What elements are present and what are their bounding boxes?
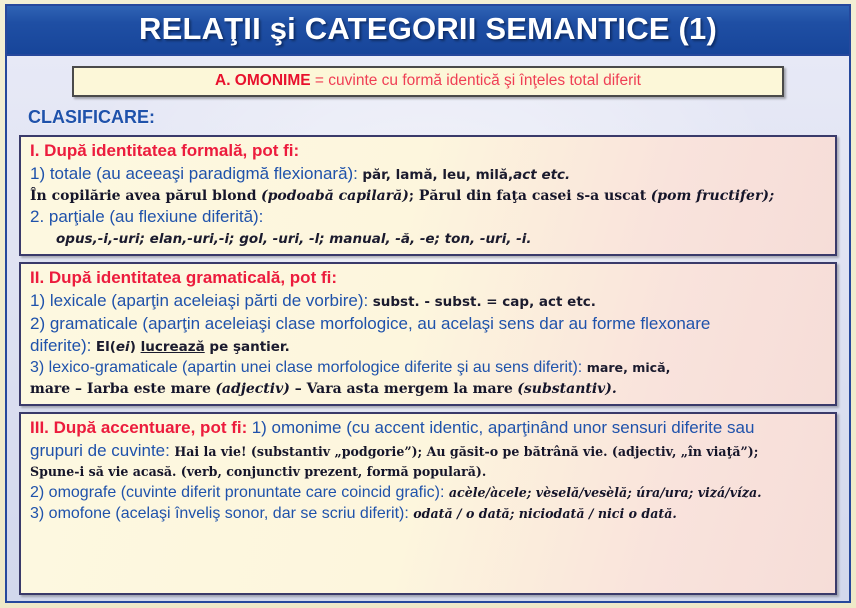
title-bar: RELAŢII şi CATEGORII SEMANTICE (1) [7, 6, 849, 56]
section-i-line1-example: păr, lamă, leu, milă, [362, 167, 513, 183]
section-iii-line-4: 2) omografe (cuvinte diferit pronuntate … [30, 483, 828, 504]
section-ii-line5-italic-2: (substantiv). [517, 381, 617, 397]
clasificare-label: CLASIFICARE: [28, 107, 840, 128]
poster-root: RELAŢII şi CATEGORII SEMANTICE (1) A. OM… [0, 0, 856, 608]
section-ii-line3-ex-underline: lucrează [141, 339, 205, 355]
section-i-line1-example-italic: act etc. [513, 167, 570, 183]
definition-text: = cuvinte cu formă identică şi înţeles t… [311, 72, 641, 89]
section-i-heading-line: I. După identitatea formală, pot fi: [30, 140, 828, 163]
section-iii-heading-line: III. După accentuare, pot fi: 1) omonime… [30, 417, 828, 440]
section-ii-line-1: 1) lexicale (aparţin aceleiaşi părti de … [30, 290, 828, 313]
section-ii-line1-blue: 1) lexicale (aparţin aceleiaşi părti de … [30, 291, 368, 310]
section-iii-heading: III. După accentuare, pot fi: [30, 418, 247, 437]
section-ii: II. După identitatea gramaticală, pot fi… [19, 262, 837, 406]
section-i: I. După identitatea formală, pot fi: 1) … [19, 135, 837, 256]
section-iii-line3-example: Spune-i să vie acasă. (verb, conjunctiv … [30, 464, 486, 479]
section-ii-line2-blue: 2) gramaticale (aparţin aceleiaşi clase … [30, 314, 710, 333]
section-ii-line5-italic-1: (adjectiv) [215, 381, 290, 397]
section-ii-line3-ex-c: pe şantier. [205, 339, 290, 355]
section-ii-line-4: 3) lexico-gramaticale (apartin unei clas… [30, 358, 828, 379]
section-ii-line3-blue: diferite): [30, 336, 91, 355]
section-iii-line2-blue: grupuri de cuvinte: [30, 441, 170, 460]
section-i-line-1: 1) totale (au aceeaşi paradigmă flexiona… [30, 163, 828, 186]
section-i-heading: I. După identitatea formală, pot fi: [30, 141, 299, 160]
section-ii-line4-example: mare, mică, [587, 360, 671, 375]
section-i-line3-blue: 2. parţiale (au flexiune diferită): [30, 207, 263, 226]
definition-term: A. OMONIME [215, 72, 311, 89]
section-ii-line1-example: subst. - subst. = cap, act etc. [373, 294, 596, 310]
section-ii-heading: II. După identitatea gramaticală, pot fi… [30, 268, 337, 287]
section-iii-line-5: 3) omofone (acelaşi înveliş sonor, dar s… [30, 504, 828, 525]
section-ii-line3-ex-italic: ei [116, 339, 130, 355]
section-iii: III. După accentuare, pot fi: 1) omonime… [19, 412, 837, 595]
section-i-line-4: opus,-i,-uri; elan,-uri,-i; gol, -uri, -… [30, 229, 828, 250]
section-iii-line5-blue: 3) omofone (acelaşi înveliş sonor, dar s… [30, 505, 409, 522]
section-i-line-3: 2. parţiale (au flexiune diferită): [30, 206, 828, 229]
section-i-line1-blue: 1) totale (au aceeaşi paradigmă flexiona… [30, 164, 358, 183]
section-ii-heading-line: II. După identitatea gramaticală, pot fi… [30, 267, 828, 290]
section-ii-line-5: mare – Iarba este mare (adjectiv) – Vara… [30, 379, 828, 400]
section-ii-line5-b: – Vara asta mergem la mare [290, 381, 513, 397]
section-i-line-2: În copilărie avea părul blond (podoabă c… [30, 186, 828, 207]
section-iii-line5-example: odată / o dată; niciodată / nici o dată. [413, 506, 676, 521]
section-i-line2-italic-2: (pom fructifer); [651, 188, 774, 204]
poster-frame: RELAŢII şi CATEGORII SEMANTICE (1) A. OM… [5, 4, 851, 603]
section-iii-line4-blue: 2) omografe (cuvinte diferit pronuntate … [30, 484, 444, 501]
section-iii-line4-example: acèle/àcele; vèselă/vesèlă; úra/ura; viz… [449, 485, 762, 500]
section-iii-line2-example: Hai la vie! (substantiv „podgorie”); Au … [174, 444, 758, 459]
section-ii-line4-blue: 3) lexico-gramaticale (apartin unei clas… [30, 359, 582, 376]
section-iii-line-3: Spune-i să vie acasă. (verb, conjunctiv … [30, 462, 828, 483]
section-i-line4-example: opus,-i,-uri; elan,-uri,-i; gol, -uri, -… [56, 231, 532, 247]
section-ii-line-2: 2) gramaticale (aparţin aceleiaşi clase … [30, 313, 828, 336]
definition-box: A. OMONIME = cuvinte cu formă identică ş… [72, 66, 784, 97]
section-ii-line5-a: mare – Iarba este mare [30, 381, 211, 397]
section-iii-line-2: grupuri de cuvinte: Hai la vie! (substan… [30, 440, 828, 463]
section-iii-line1-blue: 1) omonime (cu accent identic, aparţinân… [252, 418, 755, 437]
section-ii-line3-ex-b: ) [130, 339, 141, 355]
section-i-line2-italic-1: (podoabă capilară) [261, 188, 409, 204]
section-ii-line3-ex-a: El( [96, 339, 116, 355]
section-i-line2-b: ; Părul din faţa casei s-a uscat [409, 188, 646, 204]
section-ii-line-3: diferite): El(ei) lucrează pe şantier. [30, 335, 828, 358]
section-i-line2-a: În copilărie avea părul blond [30, 188, 257, 204]
page-title: RELAŢII şi CATEGORII SEMANTICE (1) [7, 11, 849, 47]
poster-content: A. OMONIME = cuvinte cu formă identică ş… [7, 56, 849, 601]
